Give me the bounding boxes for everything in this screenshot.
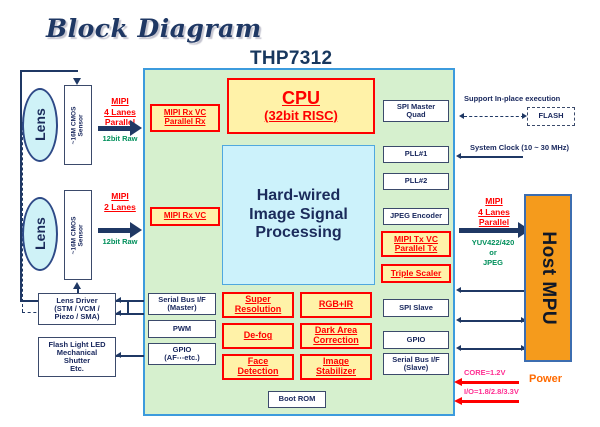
- power-label: Power: [529, 373, 562, 385]
- flash-led-label: Flash Light LEDMechanicalShutterEtc.: [48, 341, 105, 373]
- sensor-1-format-label: 12bit Raw: [96, 134, 144, 144]
- flashled-bus-arrow: [116, 352, 121, 358]
- sensor-1-ctrl-vline: [20, 70, 22, 302]
- host-link-2: [461, 320, 524, 322]
- pwm-label: PWM: [173, 325, 191, 333]
- sensor-1-ctrl-arrow: [73, 78, 81, 85]
- cmos-sensor-2: ~16M CMOSSensor: [64, 190, 92, 280]
- spi-slave-label: SPI Slave: [399, 304, 433, 312]
- flash-block: FLASH: [527, 107, 575, 126]
- lens-1-label: Lens: [32, 109, 47, 142]
- cpu-title: CPU: [282, 89, 320, 108]
- sensor-2-data-arrow: [98, 228, 130, 233]
- defog-block: De-fog: [222, 323, 294, 349]
- flash-link-arrow-left: [459, 113, 464, 119]
- gpio-af-block: GPIO(AF⋯etc.): [148, 343, 216, 365]
- pll1-block: PLL#1: [383, 146, 449, 163]
- mipi-rx-1-label: MIPI Rx VCParallel Rx: [164, 109, 206, 126]
- image-stabilizer-label: ImageStabilizer: [316, 357, 356, 376]
- jpeg-encoder-block: JPEG Encoder: [383, 208, 449, 225]
- pll2-label: PLL#2: [405, 177, 428, 185]
- power-io-line: [461, 400, 519, 403]
- super-resolution-block: SuperResolution: [222, 292, 294, 318]
- host-link-1-arrow: [456, 287, 461, 293]
- pwm-block: PWM: [148, 320, 216, 338]
- mipi-output-label: MIPI4 LanesParallel: [466, 196, 522, 228]
- spi-master-block: SPI MasterQuad: [383, 100, 449, 122]
- serial-bus-slave-block: Serial Bus I/F(Slave): [383, 353, 449, 375]
- lens-1: Lens: [22, 88, 58, 162]
- power-io-label: I/O=1.8/2.8/3.3V: [464, 387, 519, 396]
- page-title: Block Diagram: [46, 14, 262, 43]
- mipi-input-2-label: MIPI2 Lanes: [96, 191, 144, 212]
- gpio-slave-label: GPIO: [407, 336, 426, 344]
- system-clock-line: [461, 156, 523, 158]
- jpeg-encoder-label: JPEG Encoder: [390, 212, 442, 220]
- rgb-ir-block: RGB+IR: [300, 292, 372, 318]
- cpu-block: CPU (32bit RISC): [227, 78, 375, 134]
- spi-master-label: SPI MasterQuad: [397, 103, 435, 119]
- host-link-3-arrow-left: [456, 345, 461, 351]
- power-core-line: [461, 381, 519, 384]
- gpio-slave-block: GPIO: [383, 331, 449, 349]
- isp-label: Hard-wiredImage SignalProcessing: [249, 187, 348, 244]
- sensor-2-format-label: 12bit Raw: [96, 237, 144, 247]
- host-link-3: [461, 348, 524, 350]
- host-link-1: [461, 290, 524, 292]
- power-core-label: CORE=1.2V: [464, 368, 505, 377]
- spi-slave-block: SPI Slave: [383, 299, 449, 317]
- host-data-arrow: [459, 228, 518, 233]
- cpu-subtitle: (32bit RISC): [264, 109, 338, 123]
- triple-scaler-block: Triple Scaler: [381, 264, 451, 283]
- defog-label: De-fog: [244, 331, 273, 341]
- host-link-2-arrow-left: [456, 317, 461, 323]
- cmos-sensor-1-label: ~16M CMOSSensor: [71, 106, 86, 144]
- super-resolution-label: SuperResolution: [235, 295, 282, 314]
- cmos-sensor-1: ~16M CMOSSensor: [64, 85, 92, 165]
- mipi-rx-1-block: MIPI Rx VCParallel Rx: [150, 104, 220, 132]
- flash-link-arrow-right: [522, 113, 527, 119]
- power-io-arrow: [454, 397, 462, 405]
- mipi-rx-2-block: MIPI Rx VC: [150, 207, 220, 226]
- dark-area-correction-label: Dark AreaCorrection: [313, 326, 359, 345]
- flash-link: [464, 116, 524, 117]
- host-mpu-block: Host MPU: [524, 194, 572, 362]
- pll2-block: PLL#2: [383, 173, 449, 190]
- system-clock-label: System Clock (10 ~ 30 MHz): [470, 143, 569, 152]
- boot-rom-label: Boot ROM: [279, 395, 316, 403]
- boot-rom-block: Boot ROM: [268, 391, 326, 408]
- isp-block: Hard-wiredImage SignalProcessing: [222, 145, 375, 285]
- flash-note-label: Support In-place execution: [464, 94, 560, 103]
- serial-bus-master-block: Serial Bus I/F(Master): [148, 293, 216, 315]
- image-stabilizer-block: ImageStabilizer: [300, 354, 372, 380]
- sensor-2-ctrl-arrow: [73, 282, 81, 289]
- mipi-tx-block: MIPI Tx VCParallel Tx: [381, 231, 451, 257]
- mipi-rx-2-label: MIPI Rx VC: [164, 212, 206, 221]
- face-detection-label: FaceDetection: [237, 357, 278, 376]
- output-format-label: YUV422/420orJPEG: [462, 238, 524, 267]
- host-mpu-label: Host MPU: [538, 231, 559, 325]
- sensor-1-data-arrow: [98, 126, 130, 131]
- lensdriver-riser: [127, 300, 129, 313]
- serial-bus-master-label: Serial Bus I/F(Master): [158, 296, 206, 312]
- lensdriver-bus-bot-arrow: [116, 310, 121, 316]
- flash-led-block: Flash Light LEDMechanicalShutterEtc.: [38, 337, 116, 377]
- chip-name-label: THP7312: [250, 48, 332, 70]
- serial-bus-slave-label: Serial Bus I/F(Slave): [392, 356, 440, 372]
- lens-driver-block: Lens Driver(STM / VCM /Piezo / SMA): [38, 293, 116, 325]
- lensdriver-bus-top-arrow: [116, 297, 121, 303]
- pll1-label: PLL#1: [405, 150, 428, 158]
- system-clock-arrow: [456, 153, 461, 159]
- lens-2: Lens: [22, 197, 58, 271]
- face-detection-block: FaceDetection: [222, 354, 294, 380]
- triple-scaler-label: Triple Scaler: [391, 269, 442, 278]
- block-diagram-canvas: Block Diagram THP7312 Lens ~16M CMOSSens…: [0, 0, 600, 427]
- lens-driver-label: Lens Driver(STM / VCM /Piezo / SMA): [54, 297, 99, 321]
- lens-2-label: Lens: [32, 218, 47, 251]
- power-core-arrow: [454, 378, 462, 386]
- dark-area-correction-block: Dark AreaCorrection: [300, 323, 372, 349]
- gpio-af-label: GPIO(AF⋯etc.): [164, 346, 199, 362]
- flash-label: FLASH: [539, 112, 564, 120]
- sensor-1-ctrl-hline: [20, 70, 78, 72]
- rgb-ir-label: RGB+IR: [319, 300, 353, 310]
- sensor-2-data-arrowhead: [130, 222, 142, 238]
- cmos-sensor-2-label: ~16M CMOSSensor: [71, 216, 86, 254]
- mipi-tx-label: MIPI Tx VCParallel Tx: [394, 235, 438, 253]
